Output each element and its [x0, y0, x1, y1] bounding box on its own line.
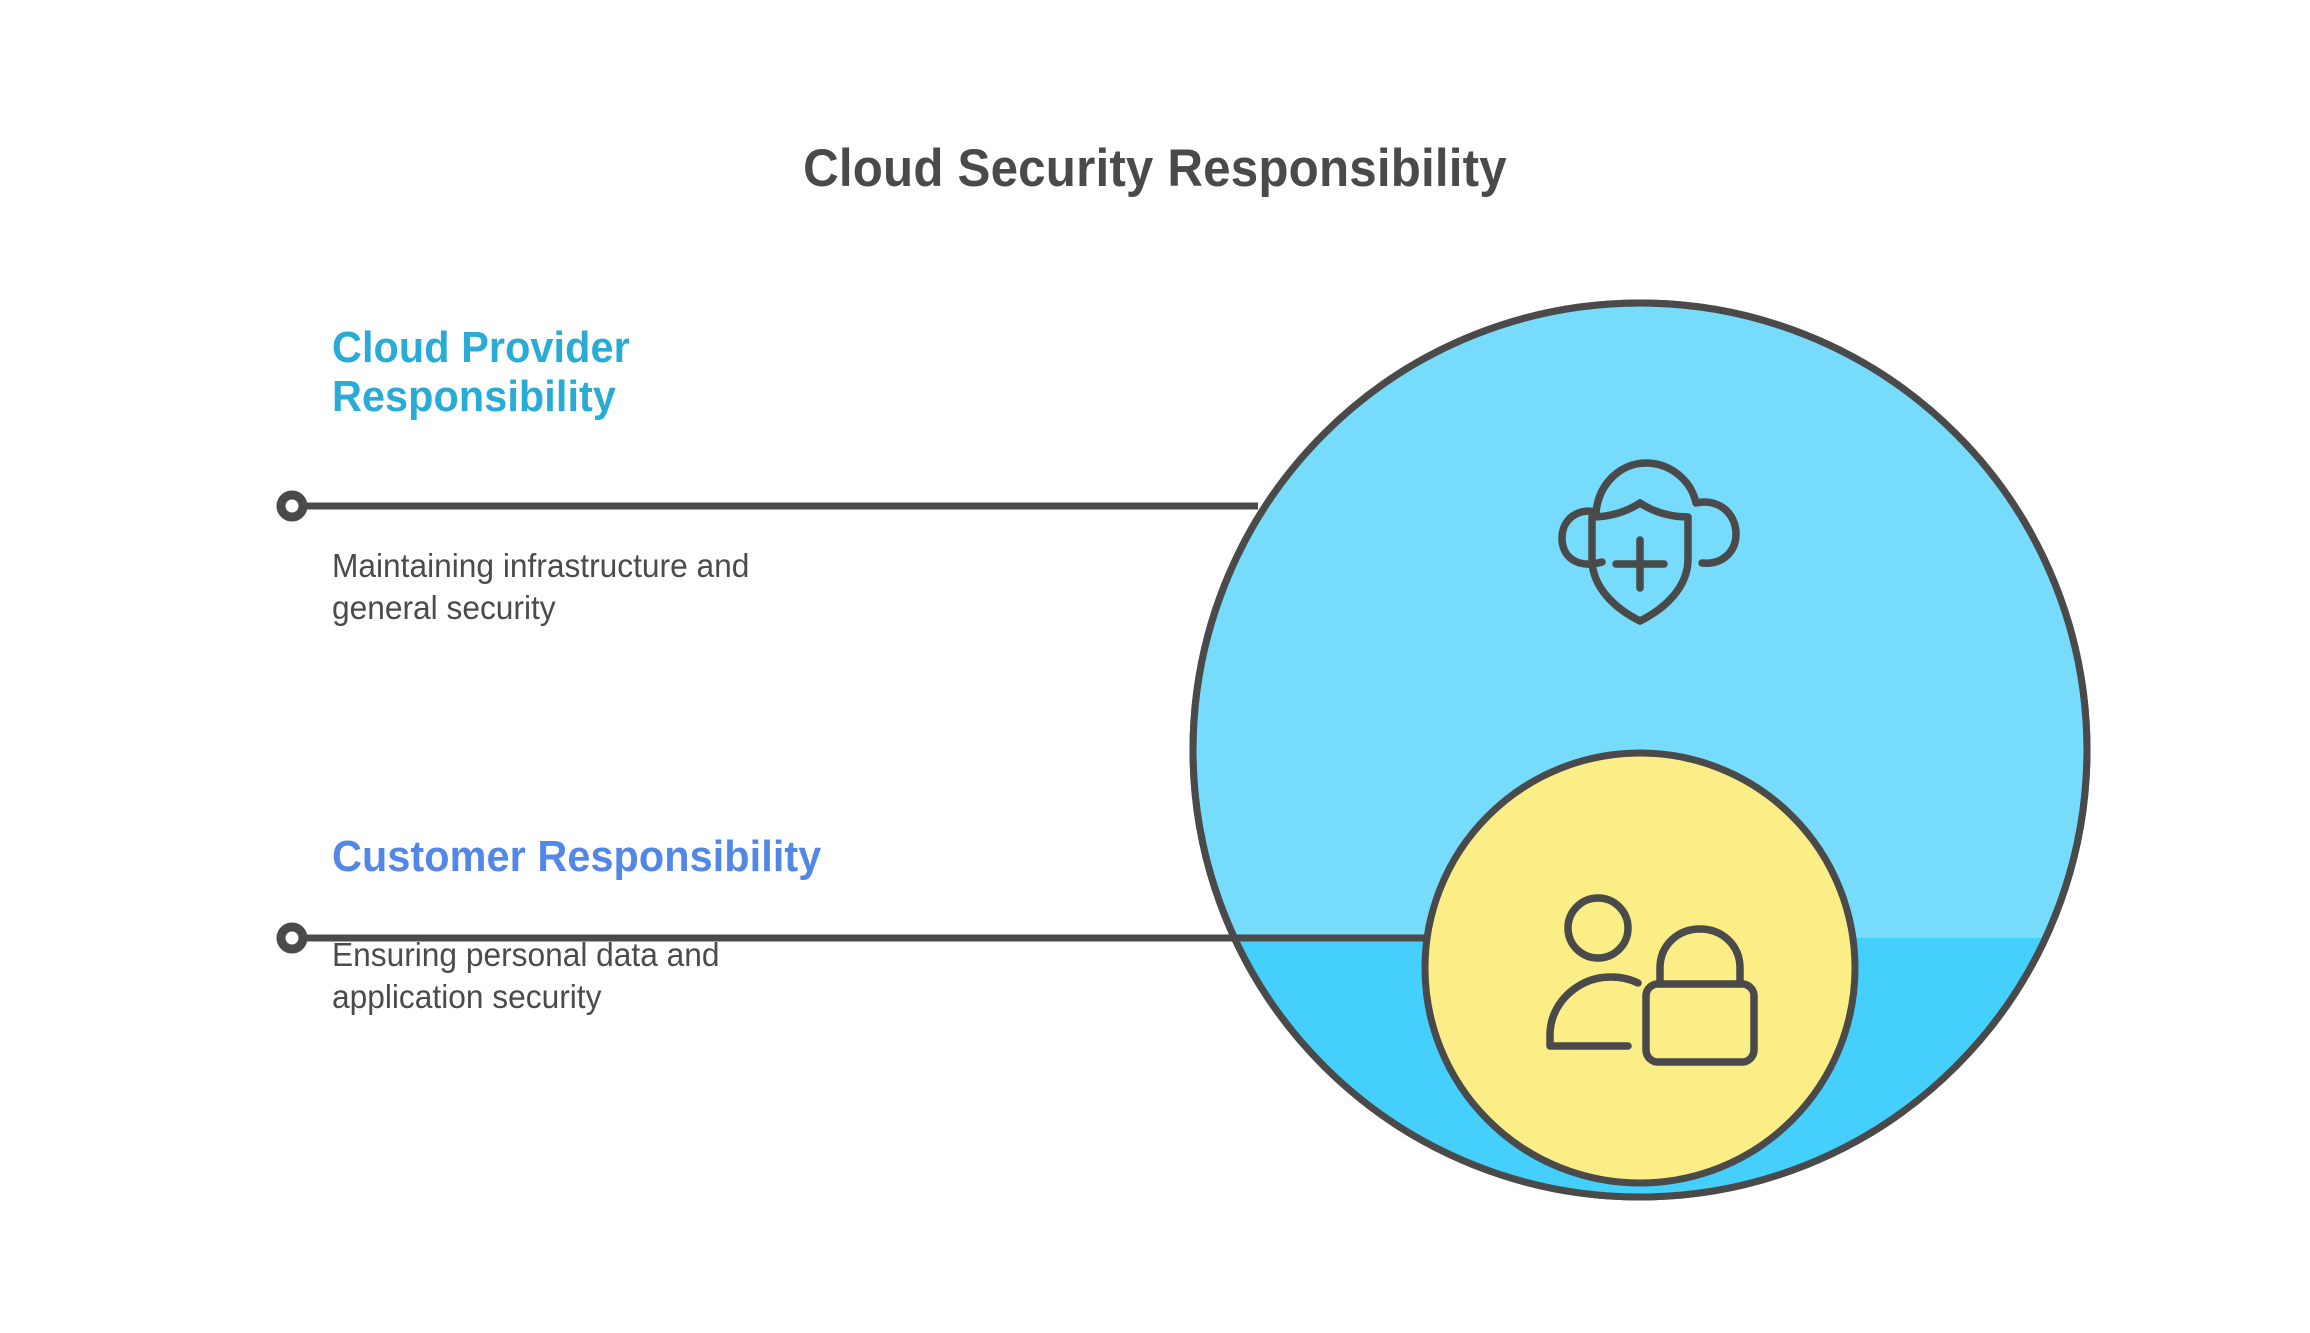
cloud-provider-description: Maintaining infrastructure and general s… — [332, 545, 749, 628]
text-block-cloud-provider: Cloud Provider Responsibility Maintainin… — [332, 323, 1032, 422]
venn-graphic — [0, 0, 2310, 1333]
page-title: Cloud Security Responsibility — [81, 138, 2229, 199]
customer-circle[interactable] — [1425, 753, 1855, 1183]
customer-description: Ensuring personal data and application s… — [332, 934, 719, 1017]
cloud-provider-heading: Cloud Provider Responsibility — [332, 323, 990, 422]
diagram-canvas: Cloud Security Responsibility Cloud Prov… — [0, 0, 2310, 1333]
connector-marker-customer[interactable] — [281, 927, 303, 949]
text-block-customer: Customer Responsibility Ensuring persona… — [332, 832, 1032, 881]
customer-heading: Customer Responsibility — [332, 832, 990, 881]
connector-marker-cloud-provider[interactable] — [281, 495, 303, 517]
